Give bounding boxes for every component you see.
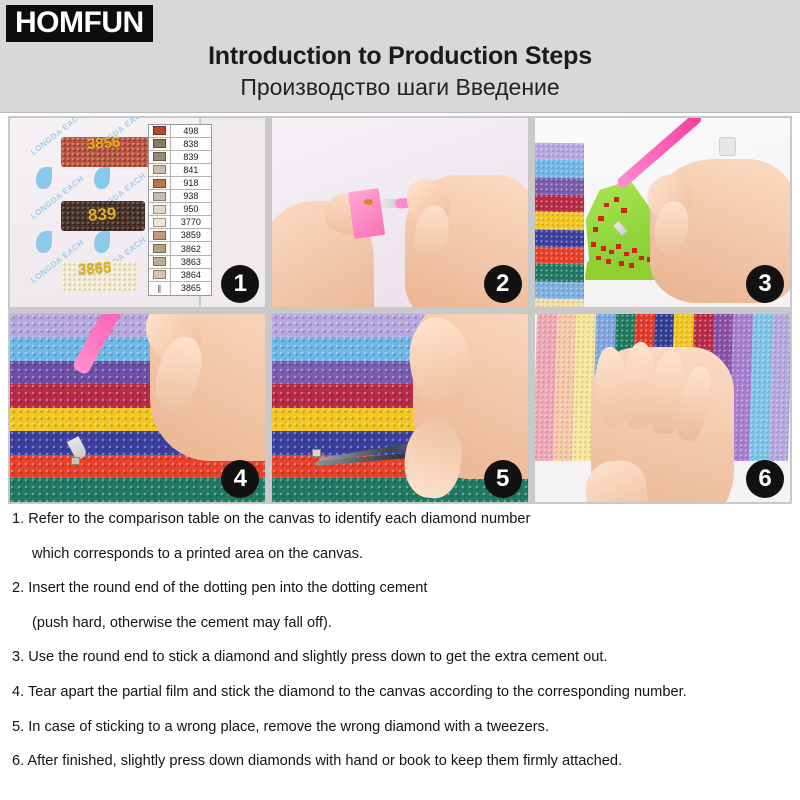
tray-diamond (593, 227, 598, 232)
tray-diamond (601, 246, 606, 251)
step-panel-6: 6 (534, 313, 791, 504)
step-badge-2: 2 (484, 265, 522, 303)
diamond-packet: 3856 (61, 137, 153, 167)
chart-number-cell: 3862 (171, 242, 211, 254)
packet-label: 3865 (77, 259, 111, 278)
page-title-russian: Производство шаги Введение (0, 74, 800, 101)
chart-row: 838 (149, 138, 211, 151)
tray-diamond (596, 256, 601, 261)
step-badge-3: 3 (746, 265, 784, 303)
chart-row: 498 (149, 125, 211, 138)
instruction-line: 5. In case of sticking to a wrong place,… (12, 720, 788, 735)
product-instruction-page: HOMFUN Introduction to Production Steps … (0, 0, 800, 800)
tray-diamond (616, 244, 621, 249)
held-diamond (71, 457, 80, 465)
page-title-english: Introduction to Production Steps (0, 42, 800, 71)
chart-number-cell: 3863 (171, 256, 211, 268)
step-badge-5: 5 (484, 460, 522, 498)
instruction-line: 3. Use the round end to stick a diamond … (12, 650, 788, 665)
diamond-packet: 3865 (61, 261, 138, 291)
pen-cap (719, 137, 737, 156)
step-panel-4: 4 (9, 313, 266, 504)
chart-symbol-cell (149, 216, 171, 228)
canvas-stripe (768, 314, 791, 461)
chart-row: 3864 (149, 269, 211, 282)
tray-diamond (619, 261, 624, 266)
packet-label: 3856 (86, 134, 120, 153)
instruction-line: (push hard, otherwise the cement may fal… (12, 616, 788, 631)
step-photo-grid: LONGDA EACH LONGDA EACH LONGDA EACH LONG… (8, 116, 792, 504)
tray-diamond (604, 203, 609, 208)
chart-row: ∥3865 (149, 282, 211, 295)
chart-number-cell: 3864 (171, 269, 211, 281)
removed-diamond (312, 449, 321, 457)
chart-number-cell: 841 (171, 164, 211, 176)
step-panel-3: 3 (534, 117, 791, 308)
chart-number-cell: 498 (171, 125, 211, 137)
instruction-list: 1. Refer to the comparison table on the … (0, 512, 800, 789)
step-panel-5: 5 (271, 313, 528, 504)
page-header: HOMFUN Introduction to Production Steps … (0, 0, 800, 113)
chart-row: 950 (149, 203, 211, 216)
tray-diamond (639, 256, 644, 261)
chart-symbol-cell (149, 177, 171, 189)
tray-diamond (614, 197, 619, 202)
diamond-packet: 839 (61, 201, 145, 231)
chart-row: 3770 (149, 216, 211, 229)
tray-diamond (621, 208, 626, 213)
chart-row: 839 (149, 151, 211, 164)
chart-number-cell: 3770 (171, 216, 211, 228)
chart-row: 918 (149, 177, 211, 190)
tray-diamond (598, 216, 603, 221)
tray-diamond (606, 259, 611, 264)
chart-number-cell: 3859 (171, 229, 211, 241)
chart-symbol-cell (149, 190, 171, 202)
step-panel-2: 2 (271, 117, 528, 308)
chart-number-cell: 838 (171, 138, 211, 150)
film-logo-icon (36, 167, 52, 189)
step-badge-1: 1 (221, 265, 259, 303)
chart-symbol-cell (149, 203, 171, 215)
instruction-line: 4. Tear apart the partial film and stick… (12, 685, 788, 700)
step-panel-1: LONGDA EACH LONGDA EACH LONGDA EACH LONG… (9, 117, 266, 308)
chart-symbol-cell (149, 256, 171, 268)
striped-canvas (535, 142, 584, 307)
tray-diamond (591, 242, 596, 247)
chart-number-cell: 938 (171, 190, 211, 202)
step-badge-6: 6 (746, 460, 784, 498)
chart-number-cell: 950 (171, 203, 211, 215)
chart-symbol-cell (149, 242, 171, 254)
tray-diamond (632, 248, 637, 253)
tray-diamond (609, 250, 614, 255)
cement-notch (364, 199, 373, 205)
brand-logo: HOMFUN (6, 5, 153, 42)
instruction-line: 2. Insert the round end of the dotting p… (12, 581, 788, 596)
chart-symbol-cell: ∥ (149, 282, 171, 295)
chart-symbol-cell (149, 164, 171, 176)
chart-number-cell: 839 (171, 151, 211, 163)
brand-logo-text: HOMFUN (15, 8, 144, 38)
instruction-line: 6. After finished, slightly press down d… (12, 754, 788, 769)
chart-symbol-cell (149, 151, 171, 163)
tray-diamond (629, 263, 634, 268)
chart-symbol-cell (149, 229, 171, 241)
chart-row: 3859 (149, 229, 211, 242)
chart-row: 3863 (149, 256, 211, 269)
instruction-line: which corresponds to a printed area on t… (12, 547, 788, 562)
packet-label: 839 (87, 204, 117, 226)
chart-symbol-cell (149, 138, 171, 150)
chart-symbol-cell (149, 125, 171, 137)
dmc-color-chart: 498 838 839 841 918 938 950 3770 3859 38… (148, 124, 212, 296)
film-logo-icon (36, 231, 52, 253)
chart-row: 938 (149, 190, 211, 203)
chart-row: 841 (149, 164, 211, 177)
chart-number-cell: 918 (171, 177, 211, 189)
chart-row: 3862 (149, 242, 211, 255)
chart-number-cell: 3865 (171, 282, 211, 295)
chart-symbol-cell (149, 269, 171, 281)
instruction-line: 1. Refer to the comparison table on the … (12, 512, 788, 527)
tray-diamond (624, 252, 629, 257)
